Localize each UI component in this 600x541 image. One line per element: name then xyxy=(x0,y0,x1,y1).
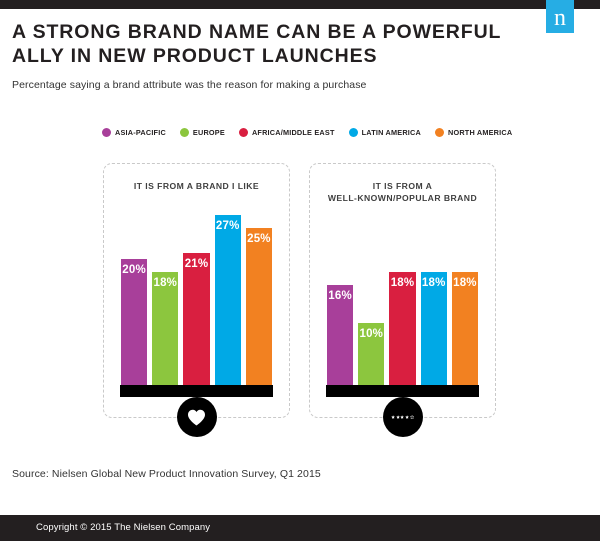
bar: 18% xyxy=(388,271,416,385)
baseline-bar xyxy=(326,385,479,397)
chart-panel-brand-i-like: IT IS FROM A BRAND I LIKE 20%18%21%27%25… xyxy=(103,163,290,418)
panel-title-line1: IT IS FROM A BRAND I LIKE xyxy=(134,181,259,191)
bar-value-label: 27% xyxy=(215,220,241,232)
heart-icon xyxy=(187,409,206,426)
legend-color-dot xyxy=(349,128,358,137)
bar-value-label: 10% xyxy=(358,328,384,340)
bar: 18% xyxy=(151,271,179,385)
top-accent-bar xyxy=(0,0,600,9)
legend-item: AFRICA/MIDDLE EAST xyxy=(239,128,335,137)
bar: 18% xyxy=(451,271,479,385)
bar-group: 20%18%21%27%25% xyxy=(120,195,273,385)
bar: 16% xyxy=(326,284,354,385)
star-icon xyxy=(396,415,400,419)
star-icon xyxy=(405,415,409,419)
legend-color-dot xyxy=(102,128,111,137)
legend-label: NORTH AMERICA xyxy=(448,128,512,137)
panel-title-line1: IT IS FROM A xyxy=(373,181,433,191)
bar-value-label: 16% xyxy=(327,290,353,302)
bar: 20% xyxy=(120,258,148,385)
legend-item: NORTH AMERICA xyxy=(435,128,512,137)
nielsen-logo-letter: n xyxy=(554,6,566,30)
legend-color-dot xyxy=(435,128,444,137)
legend-item: EUROPE xyxy=(180,128,225,137)
bar: 27% xyxy=(214,214,242,385)
legend-label: EUROPE xyxy=(193,128,225,137)
bar: 18% xyxy=(420,271,448,385)
legend-label: LATIN AMERICA xyxy=(362,128,421,137)
bar-value-label: 18% xyxy=(152,277,178,289)
star-icon xyxy=(400,415,404,419)
star-icon xyxy=(410,415,414,419)
legend-color-dot xyxy=(180,128,189,137)
legend-item: LATIN AMERICA xyxy=(349,128,421,137)
page-title: A STRONG BRAND NAME CAN BE A POWERFUL AL… xyxy=(12,20,512,68)
bar-value-label: 18% xyxy=(389,277,415,289)
bar-value-label: 25% xyxy=(246,233,272,245)
legend-label: ASIA-PACIFIC xyxy=(115,128,166,137)
baseline-bar xyxy=(120,385,273,397)
chart-panel-well-known-brand: IT IS FROM A WELL-KNOWN/POPULAR BRAND 16… xyxy=(309,163,496,418)
bar-value-label: 20% xyxy=(121,264,147,276)
legend-label: AFRICA/MIDDLE EAST xyxy=(252,128,335,137)
nielsen-logo: n xyxy=(546,0,574,33)
page-subtitle: Percentage saying a brand attribute was … xyxy=(12,79,532,91)
heart-badge xyxy=(177,397,217,437)
bar: 21% xyxy=(182,252,210,385)
legend-color-dot xyxy=(239,128,248,137)
infographic-page: n A STRONG BRAND NAME CAN BE A POWERFUL … xyxy=(0,0,600,541)
bar: 10% xyxy=(357,322,385,385)
legend-item: ASIA-PACIFIC xyxy=(102,128,166,137)
star-rating-icon xyxy=(391,415,414,419)
bar: 25% xyxy=(245,227,273,385)
source-note: Source: Nielsen Global New Product Innov… xyxy=(12,468,321,480)
bar-value-label: 21% xyxy=(183,258,209,270)
star-rating-badge xyxy=(383,397,423,437)
footer-bar: Copyright © 2015 The Nielsen Company xyxy=(0,515,600,541)
star-icon xyxy=(391,415,395,419)
bar-value-label: 18% xyxy=(452,277,478,289)
panel-title: IT IS FROM A BRAND I LIKE xyxy=(104,180,289,192)
legend: ASIA-PACIFICEUROPEAFRICA/MIDDLE EASTLATI… xyxy=(102,128,512,137)
bar-value-label: 18% xyxy=(421,277,447,289)
copyright-text: Copyright © 2015 The Nielsen Company xyxy=(36,522,210,533)
bar-group: 16%10%18%18%18% xyxy=(326,195,479,385)
